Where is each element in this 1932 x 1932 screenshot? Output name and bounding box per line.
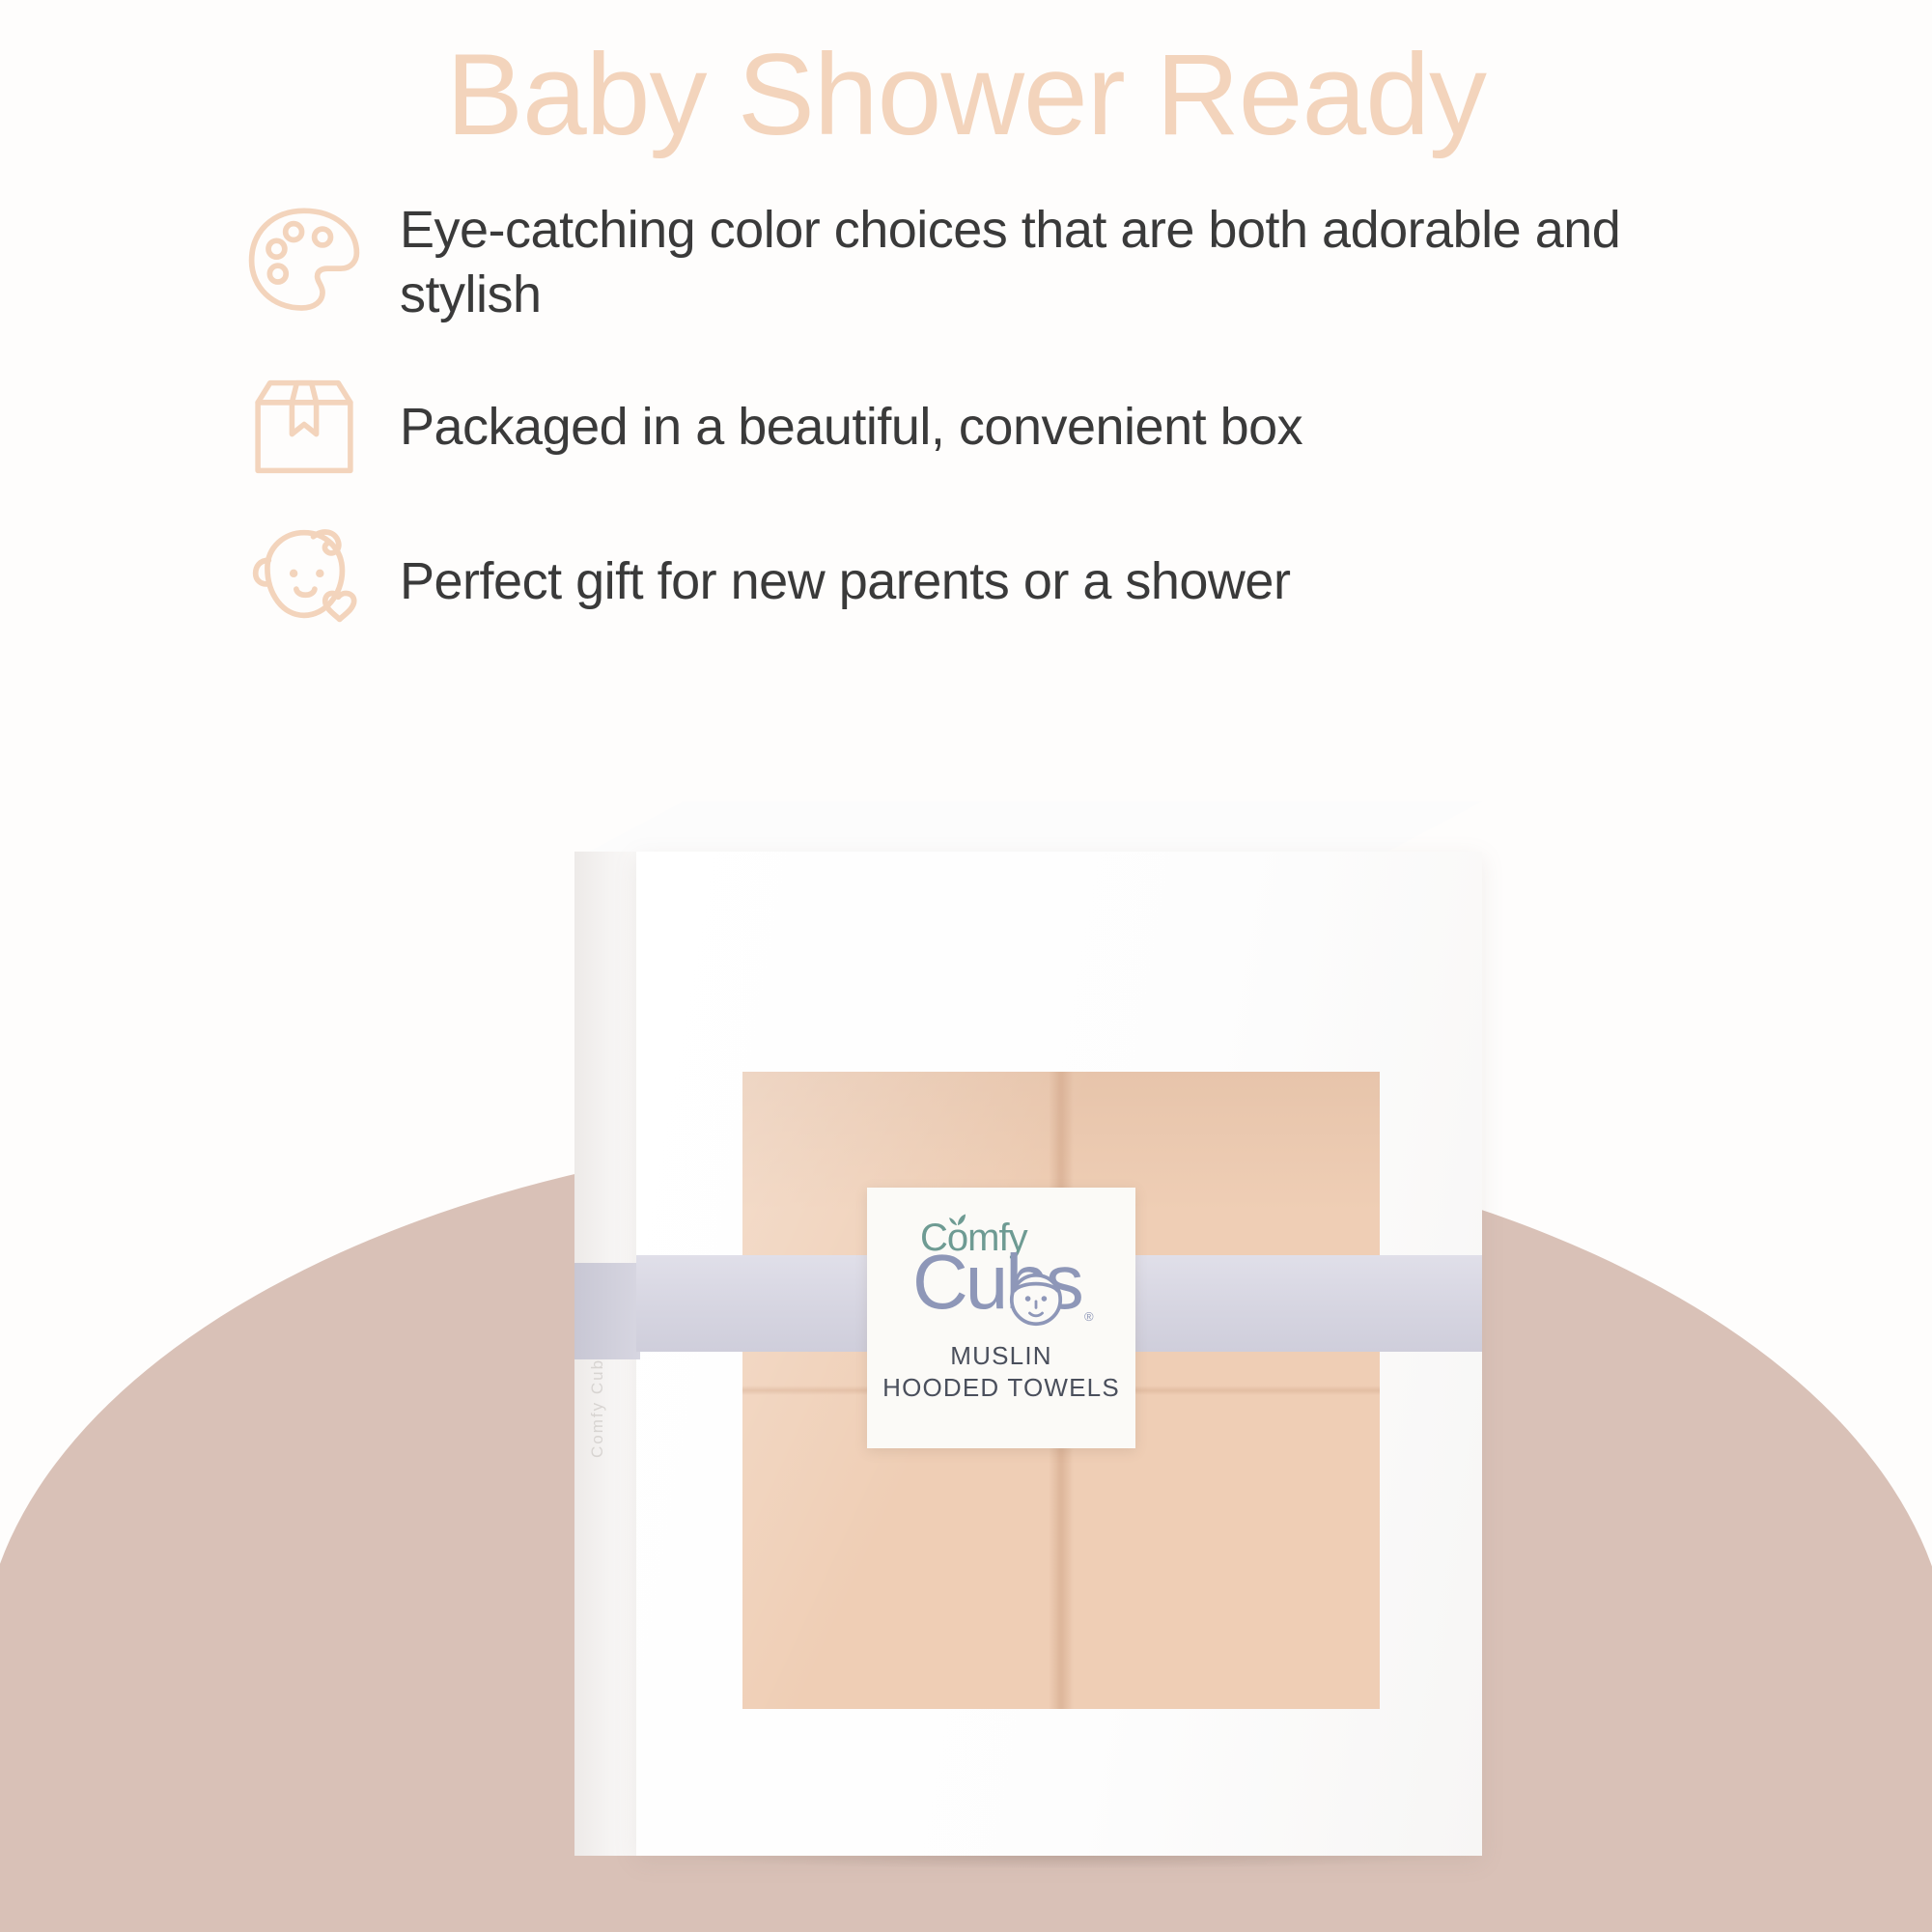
logo-baby-face-icon: [1009, 1273, 1063, 1327]
list-item-label: Packaged in a beautiful, convenient box: [377, 395, 1738, 460]
product-type-line2: HOODED TOWELS: [882, 1372, 1120, 1404]
registered-trademark: ®: [1084, 1309, 1094, 1324]
list-item: Eye-catching color choices that are both…: [232, 188, 1738, 333]
page-title: Baby Shower Ready: [0, 37, 1932, 153]
box-lid: [574, 801, 1482, 859]
baby-face-icon: [232, 509, 377, 654]
list-item-label: Perfect gift for new parents or a shower: [377, 549, 1738, 614]
belly-band-side: [574, 1263, 640, 1359]
feature-bullet-list: Eye-catching color choices that are both…: [232, 188, 1738, 663]
list-item: Perfect gift for new parents or a shower: [232, 509, 1738, 654]
gift-box-icon: [232, 354, 377, 499]
paint-palette-icon: [232, 188, 377, 333]
product-feature-graphic: Baby Shower Ready Eye-catching color cho…: [0, 0, 1932, 1932]
brand-logo: Comfy Cubs ®: [905, 1217, 1098, 1330]
product-label-card: Comfy Cubs ® MUSLIN HOODED TOWELS: [867, 1188, 1135, 1448]
list-item-label: Eye-catching color choices that are both…: [377, 194, 1738, 327]
list-item: Packaged in a beautiful, convenient box: [232, 354, 1738, 499]
product-type-line1: MUSLIN: [950, 1340, 1051, 1372]
product-image: Comfy Cubs Comfy Cubs: [534, 801, 1528, 1921]
